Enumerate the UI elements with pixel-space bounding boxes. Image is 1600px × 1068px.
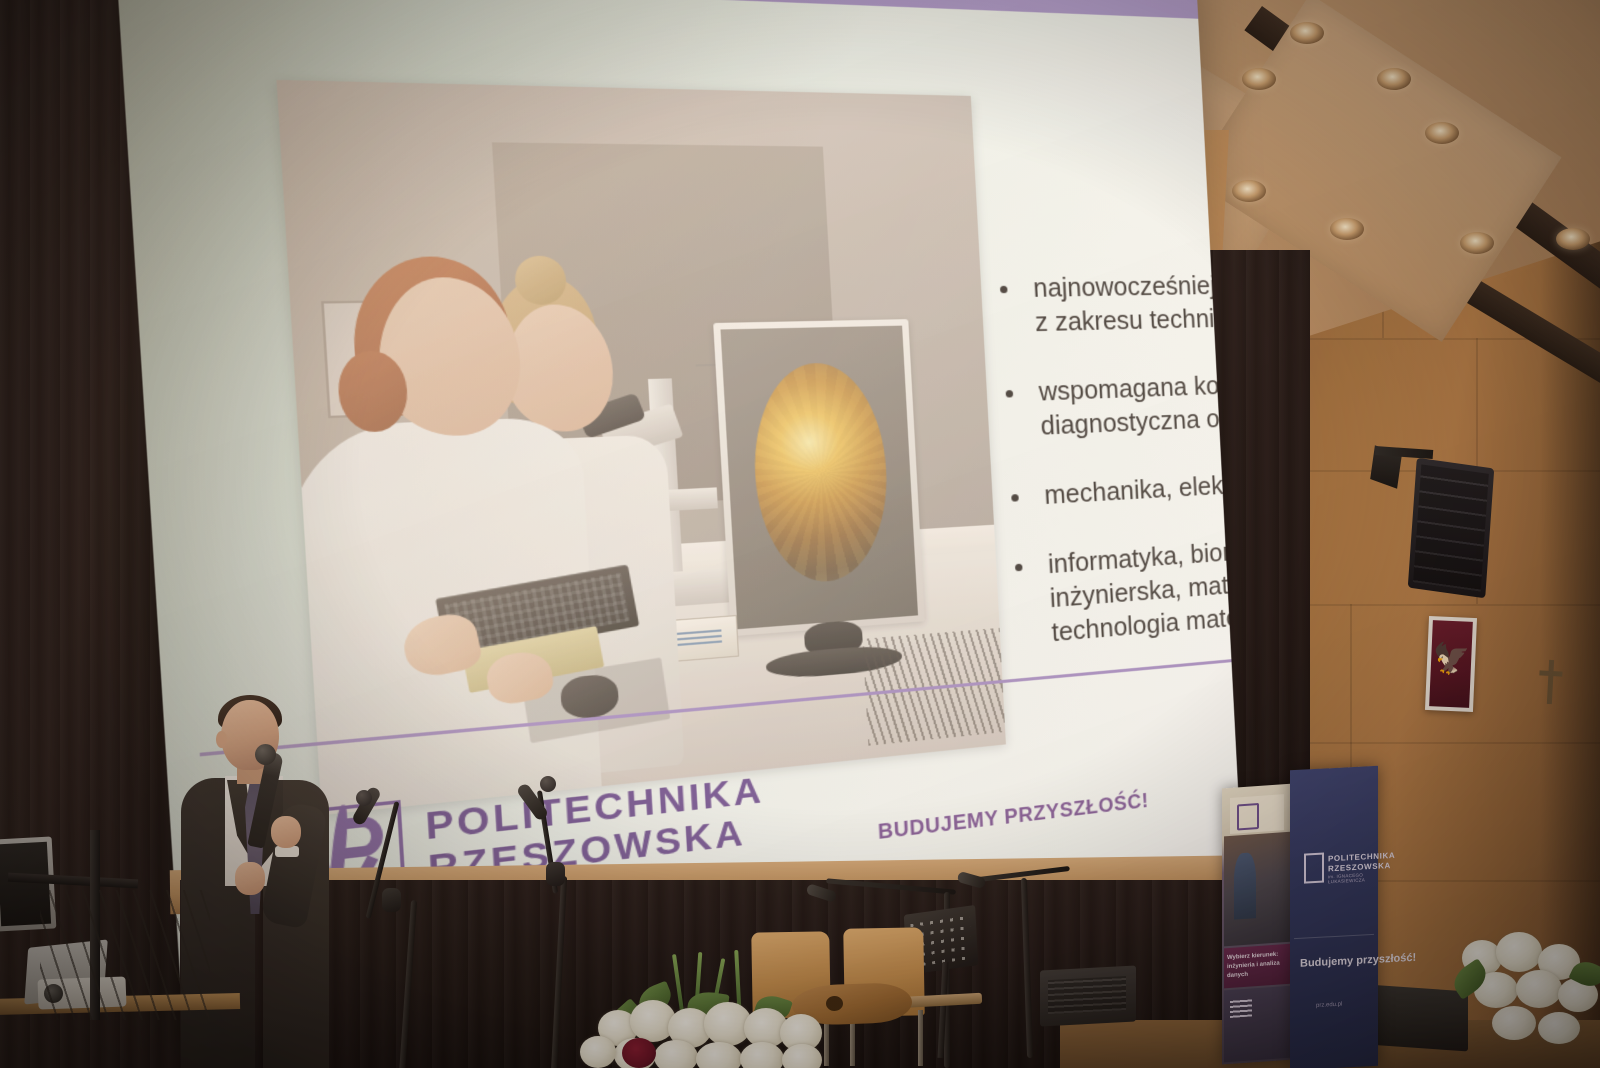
list-item: najnowocześniejsze trendy rozwojowe z za…	[991, 267, 1244, 341]
stage-monitor-speaker	[1040, 965, 1136, 1026]
slide-bullet-list: najnowocześniejsze trendy rozwojowe z za…	[991, 267, 1244, 689]
bullet-text: mechanika, elektronika, automatyka	[1043, 458, 1243, 513]
list-item: wspomagana komputerowo aparatura diagnos…	[996, 363, 1243, 446]
cables	[40, 890, 210, 1020]
banner-dark-url: prz.edu.pl	[1316, 1002, 1342, 1009]
bullet-text: informatyka, biomechanika inżynierska, m…	[1047, 522, 1244, 651]
roll-up-banner-light: Wybierz kierunek: inżynieria i analiza d…	[1222, 783, 1294, 1064]
ceiling-downlight	[1425, 122, 1459, 144]
ceiling-downlight	[1460, 232, 1494, 254]
line-array-speaker	[1408, 458, 1494, 599]
flower-bouquet	[580, 952, 850, 1068]
eagle-icon: 🦅	[1432, 644, 1471, 676]
roll-up-banner-dark: POLITECHNIKA RZESZOWSKA im. IGNACEGO ŁUK…	[1290, 766, 1378, 1068]
banner-photo	[1224, 832, 1292, 947]
banner-dark-line-3: im. IGNACEGO ŁUKASIEWICZA	[1328, 872, 1378, 885]
banner-logo-icon	[1230, 794, 1284, 834]
list-item: informatyka, biomechanika inżynierska, m…	[1006, 522, 1244, 654]
slide-tagline: BUDUJEMY PRZYSZŁOŚĆ!	[877, 789, 1149, 846]
decorative-plant	[1452, 928, 1600, 1068]
list-item: mechanika, elektronika, automatyka	[1002, 458, 1244, 516]
ceiling-downlight	[1242, 68, 1276, 90]
slide-title-band: kierunek: inżynieria w medycynie strona …	[113, 0, 1244, 28]
ceiling-downlight	[1556, 228, 1590, 250]
slide-photo-lab	[276, 80, 1005, 815]
banner-footer-mark	[1230, 998, 1252, 1018]
auditorium-scene: kierunek: inżynieria w medycynie strona …	[0, 0, 1600, 1068]
presenter-gesturing-hand	[235, 862, 265, 895]
bullet-text: wspomagana komputerowo aparatura diagnos…	[1038, 363, 1244, 444]
red-flower	[622, 1038, 656, 1068]
banner-dark-logo-icon	[1304, 853, 1324, 884]
ceiling-downlight	[1377, 68, 1411, 90]
presenter-hand-holding-mic	[271, 816, 301, 848]
ceiling-downlight	[1290, 22, 1324, 44]
ceiling-downlight	[1232, 180, 1266, 202]
polish-eagle-emblem: 🦅	[1425, 616, 1477, 712]
ceiling-downlight	[1330, 218, 1364, 240]
